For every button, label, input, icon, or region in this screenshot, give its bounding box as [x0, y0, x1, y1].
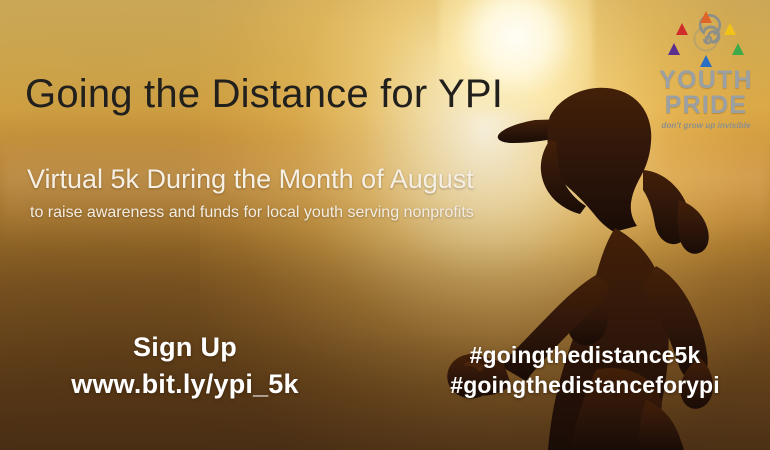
- spiral-sun-icon: [650, 8, 762, 70]
- logo-text-pride: PRIDE: [650, 93, 762, 118]
- poster-canvas: Going the Distance for YPI Virtual 5k Du…: [0, 0, 770, 450]
- hashtag-block: #goingthedistance5k #goingthedistancefor…: [420, 340, 750, 401]
- event-purpose-text: to raise awareness and funds for local y…: [30, 204, 474, 222]
- page-title: Going the Distance for YPI: [25, 72, 503, 117]
- triangle-upper-right: [724, 23, 736, 35]
- triangle-left: [668, 43, 680, 55]
- youth-pride-logo: YOUTH PRIDE don't grow up invisible: [650, 8, 762, 136]
- signup-label: Sign Up: [40, 332, 330, 363]
- triangle-bottom: [700, 55, 712, 67]
- triangle-top: [700, 11, 712, 23]
- logo-text-youth: YOUTH: [650, 68, 762, 93]
- event-subtitle: Virtual 5k During the Month of August: [27, 164, 474, 195]
- logo-tagline: don't grow up invisible: [650, 121, 762, 130]
- signup-block: Sign Up www.bit.ly/ypi_5k: [40, 332, 330, 400]
- hashtag-secondary: #goingthedistanceforypi: [420, 370, 750, 400]
- triangle-upper-left: [676, 23, 688, 35]
- signup-url-link[interactable]: www.bit.ly/ypi_5k: [40, 369, 330, 400]
- triangle-right: [732, 43, 744, 55]
- hashtag-primary: #goingthedistance5k: [420, 340, 750, 370]
